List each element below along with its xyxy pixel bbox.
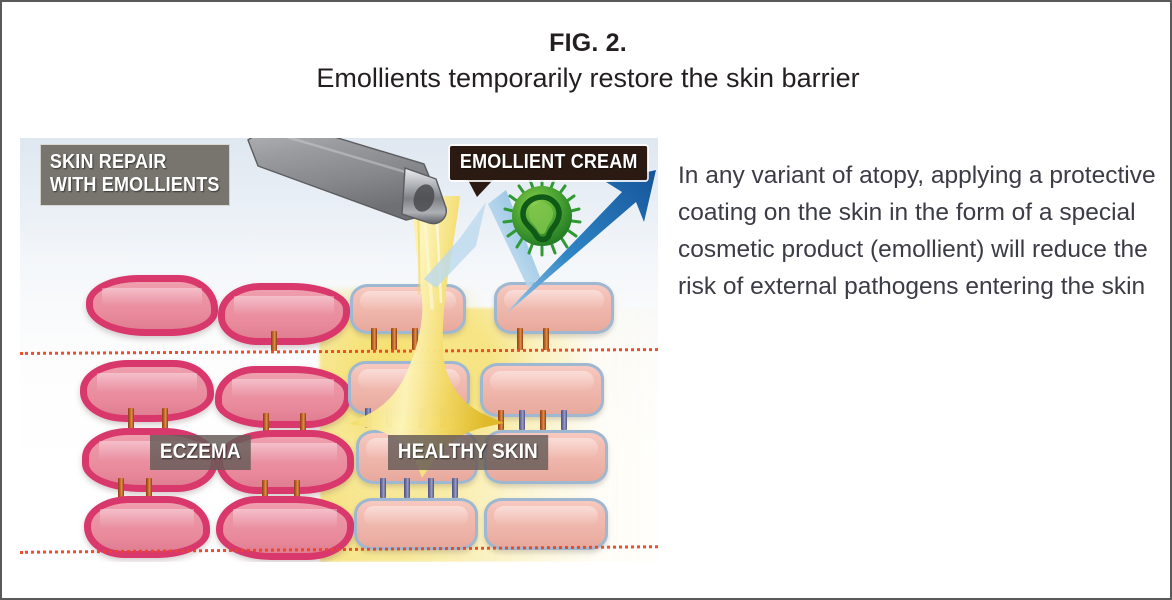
- figure-number: FIG. 2.: [2, 28, 1172, 58]
- label-healthy-skin: HEALTHY SKIN: [388, 435, 548, 470]
- description-paragraph: In any variant of atopy, applying a prot…: [678, 157, 1156, 305]
- figure-title: Emollients temporarily restore the skin …: [2, 61, 1172, 95]
- label-skin-repair: SKIN REPAIR WITH EMOLLIENTS: [40, 144, 229, 206]
- figure-header: FIG. 2. Emollients temporarily restore t…: [2, 28, 1172, 95]
- label-emollient-cream-pointer: [468, 180, 493, 197]
- label-skin-repair-line1: SKIN REPAIR: [50, 151, 220, 174]
- label-skin-repair-line2: WITH EMOLLIENTS: [50, 174, 220, 197]
- label-emollient-cream: EMOLLIENT CREAM: [450, 146, 647, 180]
- figure-page: FIG. 2. Emollients temporarily restore t…: [0, 0, 1172, 600]
- label-eczema: ECZEMA: [150, 435, 251, 470]
- skin-barrier-illustration: SKIN REPAIR WITH EMOLLIENTS EMOLLIENT CR…: [20, 138, 658, 562]
